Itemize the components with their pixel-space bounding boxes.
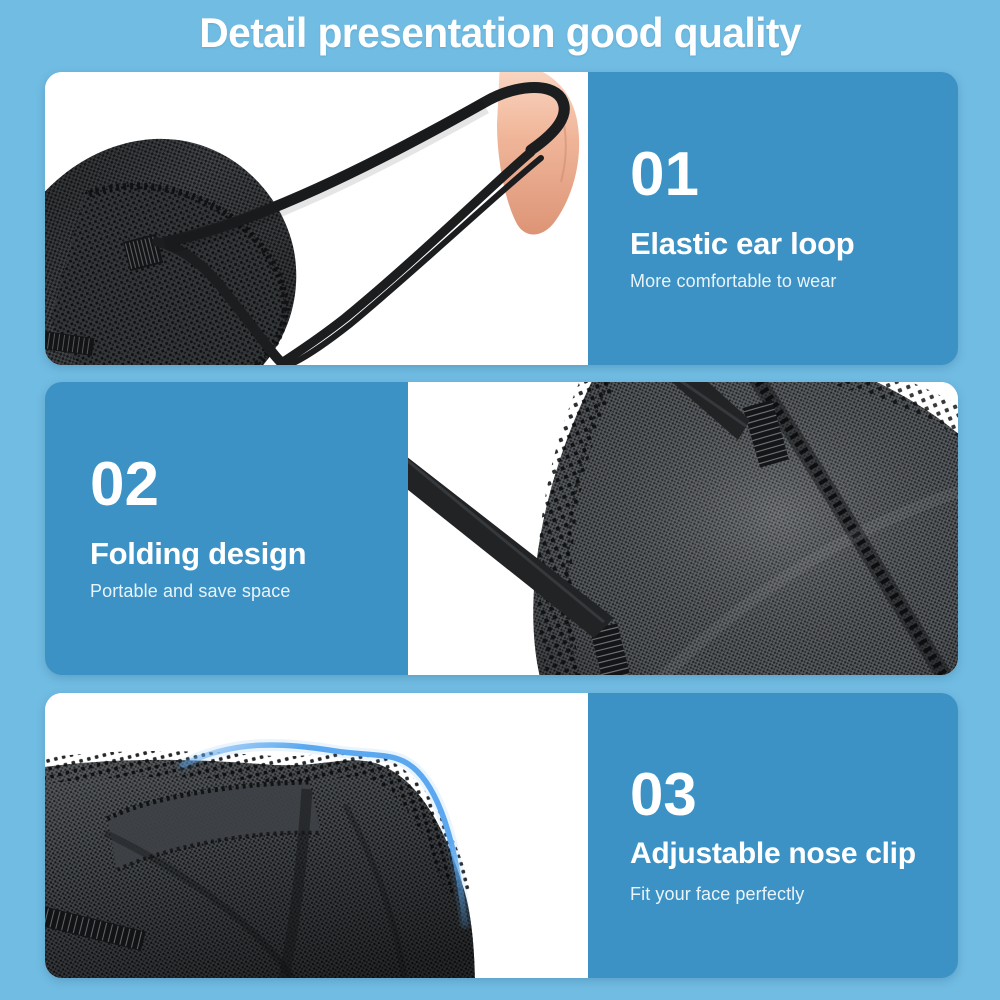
feature-text-03: 03 Adjustable nose clip Fit your face pe…: [588, 693, 958, 978]
step-title-01: Elastic ear loop: [630, 226, 958, 262]
step-number-02: 02: [90, 454, 408, 516]
step-title-02: Folding design: [90, 536, 408, 572]
mask-nose-clip-airflow-photo: [45, 693, 588, 978]
feature-card-02: 02 Folding design Portable and save spac…: [45, 382, 958, 675]
feature-text-01: 01 Elastic ear loop More comfortable to …: [588, 72, 958, 365]
step-subtitle-01: More comfortable to wear: [630, 271, 958, 293]
page-header: Detail presentation good quality: [0, 0, 1000, 66]
feature-text-02: 02 Folding design Portable and save spac…: [45, 382, 408, 675]
step-title-03: Adjustable nose clip: [630, 837, 958, 872]
infographic-page: Detail presentation good quality: [0, 0, 1000, 1000]
feature-card-03: 03 Adjustable nose clip Fit your face pe…: [45, 693, 958, 978]
folding-design-illustration: [408, 382, 958, 675]
step-number-03: 03: [630, 765, 958, 825]
step-number-01: 01: [630, 144, 958, 206]
mask-ear-loop-stretched-by-finger-photo: [45, 72, 588, 365]
page-title: Detail presentation good quality: [199, 12, 801, 54]
step-subtitle-03: Fit your face perfectly: [630, 884, 958, 906]
mask-folded-mesh-closeup-photo: [408, 382, 958, 675]
step-subtitle-02: Portable and save space: [90, 581, 408, 603]
ear-loop-illustration: [45, 72, 588, 365]
feature-card-01: 01 Elastic ear loop More comfortable to …: [45, 72, 958, 365]
nose-clip-illustration: [45, 693, 588, 978]
